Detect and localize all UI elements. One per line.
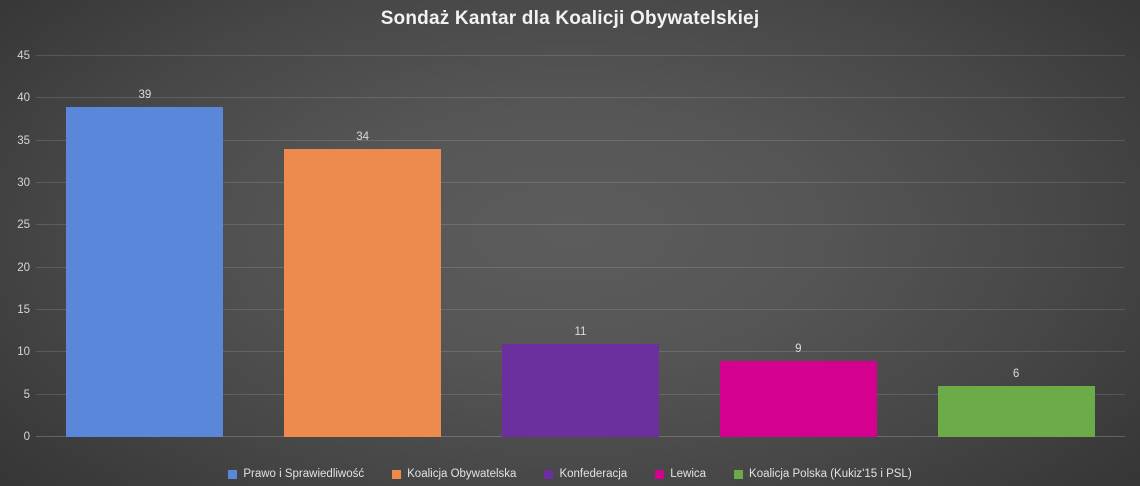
legend-item-4[interactable]: Lewica xyxy=(655,468,706,480)
bar-value-label: 11 xyxy=(502,326,659,338)
bar-2[interactable] xyxy=(284,149,441,437)
y-axis-tick-label: 20 xyxy=(0,262,30,274)
chart-container: Sondaż Kantar dla Koalicji Obywatelskiej… xyxy=(0,0,1140,486)
legend-item-label: Prawo i Sprawiedliwość xyxy=(243,468,364,480)
legend-item-label: Koalicja Obywatelska xyxy=(407,468,516,480)
legend-swatch-icon xyxy=(544,470,553,479)
bar-value-label: 34 xyxy=(284,131,441,143)
y-axis-tick-label: 0 xyxy=(0,431,30,443)
bars-layer: 39341196 xyxy=(36,56,1125,437)
y-axis-tick-label: 45 xyxy=(0,50,30,62)
legend-swatch-icon xyxy=(392,470,401,479)
y-axis-tick-label: 35 xyxy=(0,135,30,147)
y-axis-tick-label: 15 xyxy=(0,304,30,316)
legend-swatch-icon xyxy=(734,470,743,479)
legend-item-3[interactable]: Konfederacja xyxy=(544,468,627,480)
legend-item-5[interactable]: Koalicja Polska (Kukiz'15 i PSL) xyxy=(734,468,912,480)
bar-4[interactable] xyxy=(720,361,877,437)
legend-item-label: Koalicja Polska (Kukiz'15 i PSL) xyxy=(749,468,912,480)
bar-value-label: 39 xyxy=(66,89,223,101)
legend-item-label: Konfederacja xyxy=(559,468,627,480)
legend-item-1[interactable]: Prawo i Sprawiedliwość xyxy=(228,468,364,480)
legend-item-label: Lewica xyxy=(670,468,706,480)
y-axis-tick-label: 40 xyxy=(0,92,30,104)
y-axis-tick-label: 5 xyxy=(0,389,30,401)
y-axis-tick-label: 10 xyxy=(0,346,30,358)
bar-value-label: 9 xyxy=(720,343,877,355)
legend-swatch-icon xyxy=(655,470,664,479)
legend-swatch-icon xyxy=(228,470,237,479)
bar-3[interactable] xyxy=(502,344,659,437)
y-axis-tick-label: 25 xyxy=(0,219,30,231)
y-axis: 051015202530354045 xyxy=(0,56,30,437)
chart-title: Sondaż Kantar dla Koalicji Obywatelskiej xyxy=(0,8,1140,30)
legend-item-2[interactable]: Koalicja Obywatelska xyxy=(392,468,516,480)
bar-5[interactable] xyxy=(938,386,1095,437)
bar-1[interactable] xyxy=(66,107,223,437)
chart-legend: Prawo i SprawiedliwośćKoalicja Obywatels… xyxy=(0,468,1140,480)
y-axis-tick-label: 30 xyxy=(0,177,30,189)
bar-value-label: 6 xyxy=(938,368,1095,380)
